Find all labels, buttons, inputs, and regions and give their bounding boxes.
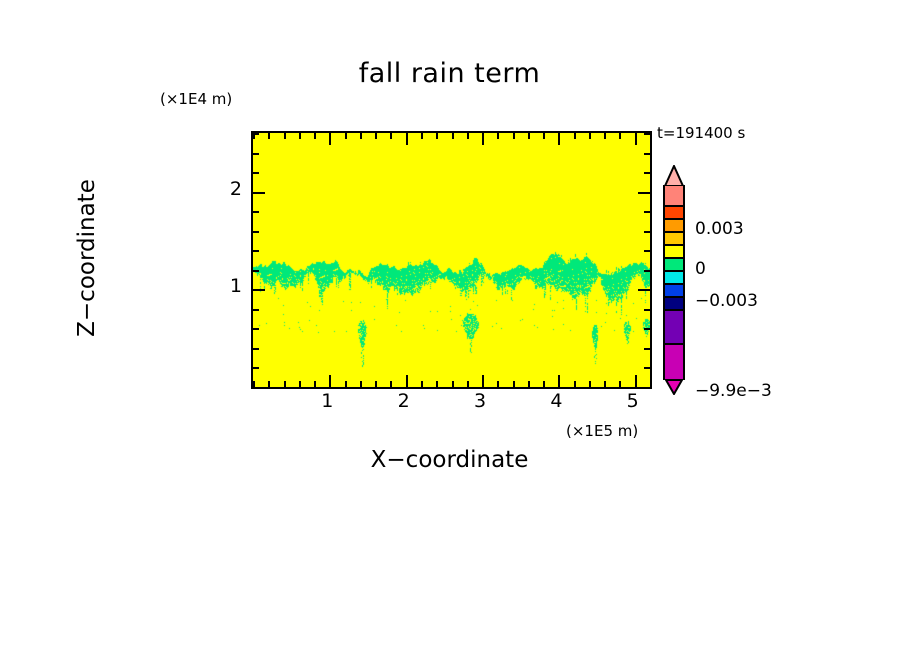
- x-minor-tick: [345, 133, 347, 139]
- x-minor-tick: [299, 381, 301, 387]
- page-title: fall rain term: [251, 58, 648, 89]
- colorbar-tick-label: 0: [695, 259, 706, 279]
- y-minor-tick: [644, 387, 650, 389]
- y-minor-tick: [644, 270, 650, 272]
- x-minor-tick: [619, 381, 621, 387]
- x-minor-tick: [574, 381, 576, 387]
- colorbar-band: [663, 245, 685, 258]
- y-minor-tick: [253, 309, 259, 311]
- x-minor-tick: [452, 381, 454, 387]
- y-tick-label: 1: [222, 275, 242, 297]
- y-minor-tick: [644, 133, 650, 135]
- x-major-tick: [329, 375, 331, 387]
- y-axis-title: Z−coordinate: [74, 128, 100, 388]
- colorbar-extend-bottom-icon: [663, 379, 685, 395]
- x-minor-tick: [375, 133, 377, 139]
- x-major-tick: [406, 133, 408, 145]
- x-minor-tick: [604, 133, 606, 139]
- y-minor-tick: [253, 211, 259, 213]
- y-minor-tick: [253, 328, 259, 330]
- x-major-tick: [635, 133, 637, 145]
- colorbar-tick-label: −0.003: [695, 291, 758, 311]
- x-minor-tick: [513, 381, 515, 387]
- y-minor-tick: [644, 348, 650, 350]
- x-minor-tick: [314, 381, 316, 387]
- x-minor-tick: [314, 133, 316, 139]
- x-major-tick: [558, 133, 560, 145]
- x-major-tick: [482, 375, 484, 387]
- figure-canvas: fall rain term (×1E4 m) (×1E5 m) t=19140…: [0, 0, 904, 654]
- x-minor-tick: [604, 381, 606, 387]
- x-minor-tick: [284, 381, 286, 387]
- x-major-tick: [558, 375, 560, 387]
- x-tick-label: 2: [389, 390, 419, 412]
- x-tick-label: 3: [465, 390, 495, 412]
- x-minor-tick: [467, 133, 469, 139]
- x-axis-unit-label: (×1E5 m): [566, 422, 638, 440]
- x-minor-tick: [268, 381, 270, 387]
- plot-area: [251, 131, 652, 389]
- x-minor-tick: [284, 133, 286, 139]
- y-major-tick: [253, 289, 265, 291]
- x-minor-tick: [543, 381, 545, 387]
- y-minor-tick: [644, 328, 650, 330]
- x-minor-tick: [497, 381, 499, 387]
- x-tick-label: 1: [312, 390, 342, 412]
- x-minor-tick: [528, 381, 530, 387]
- colorbar-band: [663, 310, 685, 344]
- y-minor-tick: [253, 250, 259, 252]
- x-minor-tick: [375, 381, 377, 387]
- y-minor-tick: [253, 231, 259, 233]
- x-minor-tick: [436, 133, 438, 139]
- y-minor-tick: [253, 348, 259, 350]
- x-minor-tick: [390, 133, 392, 139]
- y-minor-tick: [253, 133, 259, 135]
- x-minor-tick: [650, 133, 652, 139]
- x-minor-tick: [589, 133, 591, 139]
- x-minor-tick: [345, 381, 347, 387]
- colorbar-band: [663, 271, 685, 284]
- x-minor-tick: [421, 133, 423, 139]
- colorbar-extend-top-icon: [663, 165, 685, 187]
- colorbar-band: [663, 344, 685, 380]
- x-major-tick: [329, 133, 331, 145]
- y-minor-tick: [644, 250, 650, 252]
- y-major-tick: [638, 192, 650, 194]
- y-major-tick: [638, 289, 650, 291]
- x-tick-label: 4: [541, 390, 571, 412]
- x-minor-tick: [452, 133, 454, 139]
- x-minor-tick: [574, 133, 576, 139]
- colorbar-band: [663, 284, 685, 297]
- colorbar-tick-label: −9.9e−3: [695, 381, 772, 401]
- colorbar-band: [663, 258, 685, 271]
- colorbar-tick-label: 0.003: [695, 219, 744, 239]
- x-minor-tick: [513, 133, 515, 139]
- x-axis-title: X−coordinate: [251, 447, 648, 473]
- y-minor-tick: [644, 367, 650, 369]
- x-minor-tick: [268, 133, 270, 139]
- y-minor-tick: [644, 231, 650, 233]
- y-minor-tick: [253, 387, 259, 389]
- colorbar-band: [663, 185, 685, 206]
- x-major-tick: [635, 375, 637, 387]
- x-minor-tick: [528, 133, 530, 139]
- y-minor-tick: [644, 172, 650, 174]
- x-minor-tick: [421, 381, 423, 387]
- y-minor-tick: [644, 211, 650, 213]
- contour-field: [253, 133, 650, 387]
- x-minor-tick: [619, 133, 621, 139]
- x-minor-tick: [436, 381, 438, 387]
- y-axis-unit-label: (×1E4 m): [160, 90, 232, 108]
- x-tick-label: 5: [618, 390, 648, 412]
- colorbar: [663, 185, 685, 380]
- x-minor-tick: [497, 133, 499, 139]
- y-tick-label: 2: [222, 178, 242, 200]
- y-minor-tick: [644, 153, 650, 155]
- x-minor-tick: [467, 381, 469, 387]
- colorbar-band: [663, 206, 685, 219]
- time-annotation: t=191400 s: [657, 124, 745, 142]
- colorbar-band: [663, 297, 685, 310]
- y-minor-tick: [253, 172, 259, 174]
- colorbar-band: [663, 219, 685, 232]
- x-minor-tick: [543, 133, 545, 139]
- x-major-tick: [482, 133, 484, 145]
- y-minor-tick: [253, 367, 259, 369]
- colorbar-band: [663, 232, 685, 245]
- x-minor-tick: [390, 381, 392, 387]
- x-minor-tick: [360, 381, 362, 387]
- x-minor-tick: [589, 381, 591, 387]
- x-major-tick: [406, 375, 408, 387]
- y-major-tick: [253, 192, 265, 194]
- x-minor-tick: [360, 133, 362, 139]
- y-minor-tick: [644, 309, 650, 311]
- y-minor-tick: [253, 153, 259, 155]
- x-minor-tick: [299, 133, 301, 139]
- y-minor-tick: [253, 270, 259, 272]
- x-minor-tick: [650, 381, 652, 387]
